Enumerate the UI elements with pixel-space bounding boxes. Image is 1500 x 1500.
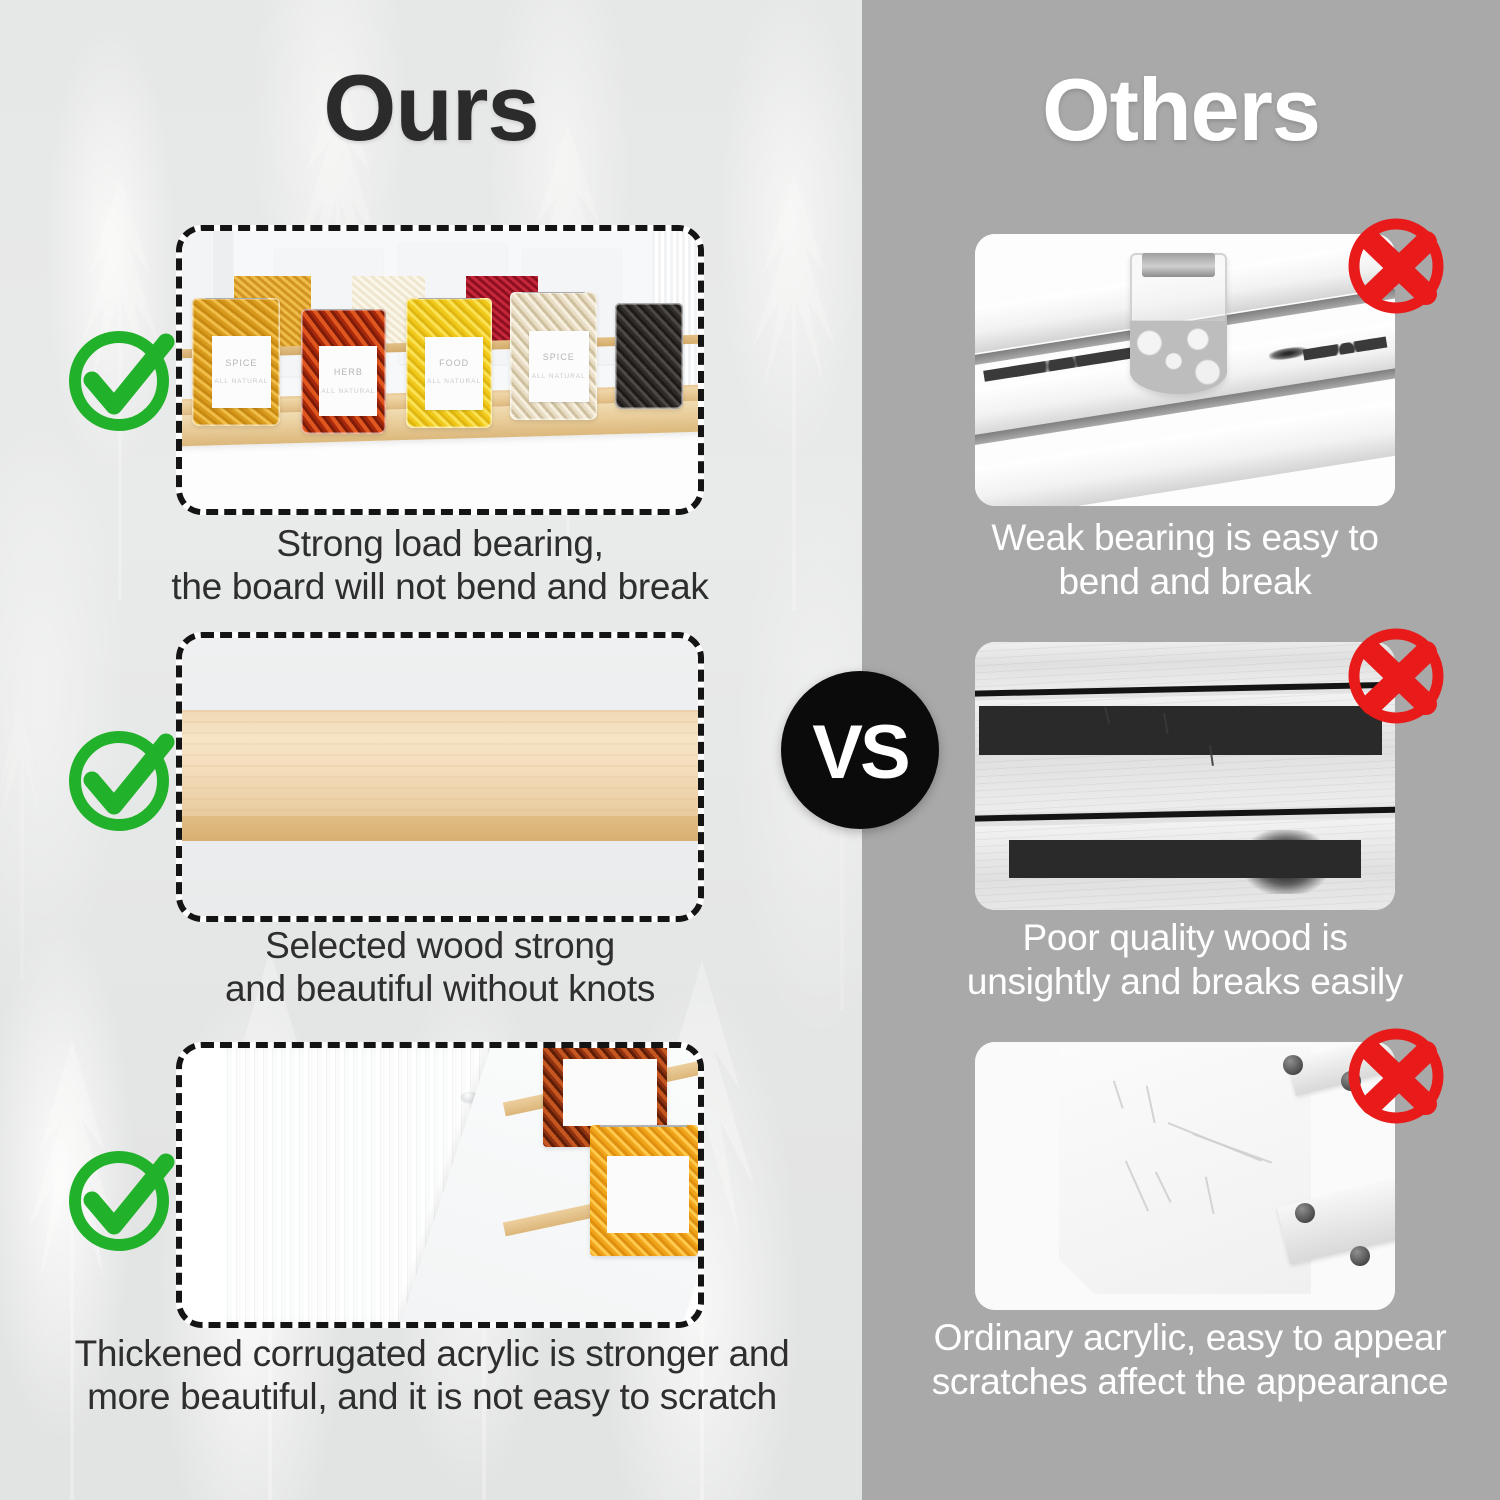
- others-caption-poor-wood: Poor quality wood is unsightly and break…: [930, 916, 1440, 1004]
- jar-lid-icon: [522, 292, 585, 293]
- ours-photo-corrugated-acrylic: [176, 1042, 704, 1328]
- red-cross-circle-icon: [1342, 1018, 1454, 1130]
- ours-photo-selected-wood: [176, 632, 704, 922]
- vs-badge: VS: [781, 671, 939, 829]
- jar-lid-icon: [313, 309, 374, 310]
- ours-caption-selected-wood: Selected wood strong and beautiful witho…: [120, 924, 760, 1010]
- acrylic-panel: [1059, 1047, 1311, 1294]
- screw-icon: [1295, 1203, 1315, 1223]
- jar-label: [607, 1156, 689, 1232]
- glass-jar: [1130, 253, 1227, 394]
- jar-lid-icon: [1142, 253, 1215, 277]
- spice-jar: HERB ALL NATURAL: [301, 309, 386, 434]
- jar-lid-icon: [418, 298, 479, 299]
- page-title-others: Others: [862, 62, 1500, 158]
- jar-label: SPICE ALL NATURAL: [529, 331, 589, 403]
- others-photo-poor-wood: [975, 642, 1395, 910]
- jar-label: [563, 1059, 657, 1126]
- page-title-ours: Ours: [0, 58, 862, 158]
- spice-jar: FOOD ALL NATURAL: [406, 298, 491, 429]
- wood-plank-edge: [182, 816, 698, 841]
- spice-jar: [615, 303, 682, 409]
- ours-photo-load-bearing: SPICE ALL NATURAL HERB ALL NATURAL FOOD …: [176, 225, 704, 515]
- ours-caption-corrugated-acrylic: Thickened corrugated acrylic is stronger…: [24, 1332, 840, 1418]
- jar-lid-icon: [625, 303, 673, 304]
- screw-icon: [1350, 1246, 1370, 1266]
- green-check-circle-icon: [62, 718, 182, 838]
- others-caption-scratched-acrylic: Ordinary acrylic, easy to appear scratch…: [910, 1316, 1470, 1404]
- comparison-infographic: Ours Others SPICE ALL NATURAL: [0, 0, 1500, 1500]
- jar-contents: [1130, 321, 1227, 395]
- jar-lid-icon: [600, 1125, 687, 1128]
- others-photo-scratched-acrylic: [975, 1042, 1395, 1310]
- jar-label: FOOD ALL NATURAL: [425, 337, 483, 410]
- jar-label: SPICE ALL NATURAL: [212, 336, 272, 408]
- vs-badge-label: VS: [781, 673, 939, 831]
- screw-icon: [1283, 1055, 1303, 1075]
- red-cross-circle-icon: [1342, 208, 1454, 320]
- others-photo-weak-bearing: [975, 234, 1395, 506]
- jar-label: HERB ALL NATURAL: [319, 346, 377, 416]
- spice-jar: SPICE ALL NATURAL: [192, 298, 280, 426]
- jar-lid-icon: [205, 298, 268, 299]
- red-cross-circle-icon: [1342, 618, 1454, 730]
- green-check-circle-icon: [62, 1138, 182, 1258]
- ours-caption-load-bearing: Strong load bearing, the board will not …: [120, 522, 760, 608]
- spice-jar: [590, 1125, 698, 1257]
- green-check-circle-icon: [62, 318, 182, 438]
- others-caption-weak-bearing: Weak bearing is easy to bend and break: [930, 516, 1440, 604]
- spice-jar: SPICE ALL NATURAL: [510, 292, 598, 420]
